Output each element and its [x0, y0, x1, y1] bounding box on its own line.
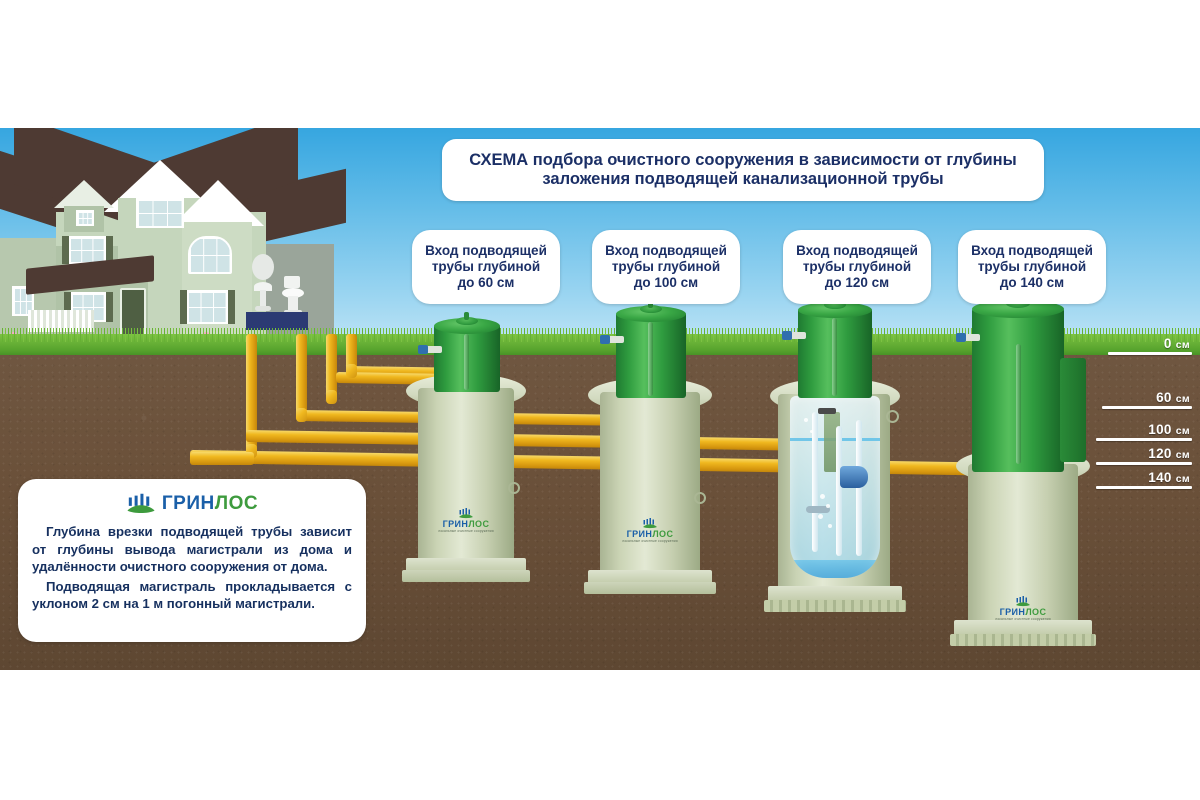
tank-brand-second: ЛОС [1025, 607, 1046, 617]
brand-logo: ГРИНЛОС [32, 489, 352, 519]
house [0, 140, 340, 352]
infographic-canvas: ГРИНЛОС локальные очистные сооружения [0, 0, 1200, 800]
callout-depth-140: Вход подводящей трубы глубиной до 140 см [958, 230, 1106, 304]
grinlos-mark-icon [1015, 596, 1031, 607]
info-text: Глубина врезки подводящей трубы зависит … [32, 523, 352, 613]
depth-value: 100 [1148, 422, 1171, 437]
tank-brand-first: ГРИН [443, 519, 469, 529]
callout-depth-120: Вход подводящей трубы глубиной до 120 см [783, 230, 931, 304]
tank-brand-first: ГРИН [1000, 607, 1026, 617]
depth-unit: см [1176, 393, 1190, 405]
callout-line2: трубы глубиной [971, 259, 1093, 275]
tank-brand-tagline: локальные очистные сооружения [990, 618, 1056, 621]
pipe-elbow-4 [346, 364, 357, 378]
depth-value: 140 [1148, 470, 1171, 485]
depth-mark-140: 140 см [1096, 470, 1192, 489]
info-paragraph-2: Подводящая магистраль прокладывается с у… [32, 578, 352, 613]
callout-line2: трубы глубиной [425, 259, 547, 275]
airlift-pump [840, 466, 868, 488]
grinlos-mark-icon [458, 508, 474, 519]
tank-brand-tagline: локальные очистные сооружения [434, 530, 498, 533]
tank-brand-first: ГРИН [627, 529, 653, 539]
info-paragraph-1: Глубина врезки подводящей трубы зависит … [32, 523, 352, 576]
tank-brand-logo: ГРИНЛОС локальные очистные сооружения [618, 518, 682, 543]
main-title-line2: заложения подводящей канализационной тру… [469, 170, 1016, 189]
depth-mark-100: 100 см [1096, 422, 1192, 441]
tank-brand-second: ЛОС [468, 519, 489, 529]
pipe-elbow-3 [326, 390, 337, 404]
main-title-line1: СХЕМА подбора очистного сооружения в зав… [469, 151, 1016, 170]
grinlos-mark-icon [126, 492, 156, 516]
tank-brand-logo: ГРИНЛОС локальные очистные сооружения [434, 508, 498, 533]
depth-value: 60 [1156, 390, 1172, 405]
depth-unit: см [1176, 473, 1190, 485]
depth-unit: см [1176, 449, 1190, 461]
callout-line2: трубы глубиной [796, 259, 918, 275]
callout-depth-100: Вход подводящей трубы глубиной до 100 см [592, 230, 740, 304]
pipe-vertical-2 [296, 334, 307, 416]
callout-line3: до 140 см [971, 275, 1093, 291]
treatment-tank-1: ГРИНЛОС локальные очистные сооружения [400, 318, 532, 608]
depth-mark-120: 120 см [1096, 446, 1192, 465]
callout-line1: Вход подводящей [425, 243, 547, 259]
tank-brand-tagline: локальные очистные сооружения [802, 544, 866, 547]
callout-line3: до 60 см [425, 275, 547, 291]
main-title-box: СХЕМА подбора очистного сооружения в зав… [442, 139, 1044, 201]
depth-mark-60: 60 см [1102, 390, 1192, 409]
tank-brand-second: ЛОС [836, 533, 857, 543]
treatment-tank-2: ГРИНЛОС локальные очистные сооружения [582, 306, 718, 616]
brand-name-second: ЛОС [215, 493, 258, 514]
callout-line2: трубы глубиной [605, 259, 727, 275]
brand-name-first: ГРИН [162, 493, 215, 514]
grinlos-mark-icon [642, 518, 658, 529]
callout-line3: до 120 см [796, 275, 918, 291]
tank-brand-first: ГРИН [811, 533, 837, 543]
depth-value: 0 [1164, 336, 1172, 351]
pipe-lead-140 [190, 452, 254, 465]
callout-depth-60: Вход подводящей трубы глубиной до 60 см [412, 230, 560, 304]
depth-unit: см [1176, 425, 1190, 437]
tank-brand-second: ЛОС [652, 529, 673, 539]
callout-line1: Вход подводящей [605, 243, 727, 259]
tank-brand-tagline: локальные очистные сооружения [618, 540, 682, 543]
pipe-elbow-2 [296, 408, 307, 422]
depth-unit: см [1176, 339, 1190, 351]
depth-mark-0: 0 см [1108, 336, 1192, 355]
tank-brand-logo: ГРИНЛОС локальные очистные сооружения [990, 596, 1056, 621]
callout-line1: Вход подводящей [971, 243, 1093, 259]
info-box: ГРИНЛОС Глубина врезки подводящей трубы … [18, 479, 366, 642]
treatment-tank-4: ГРИНЛОС локальные очистные сооружения [948, 300, 1098, 650]
callout-line1: Вход подводящей [796, 243, 918, 259]
pipe-vertical-3 [326, 334, 337, 396]
treatment-tank-3: ГРИНЛОС локальные очистные сооружения [764, 302, 906, 632]
depth-value: 120 [1148, 446, 1171, 461]
callout-line3: до 100 см [605, 275, 727, 291]
tank-cutaway-window [790, 396, 880, 578]
